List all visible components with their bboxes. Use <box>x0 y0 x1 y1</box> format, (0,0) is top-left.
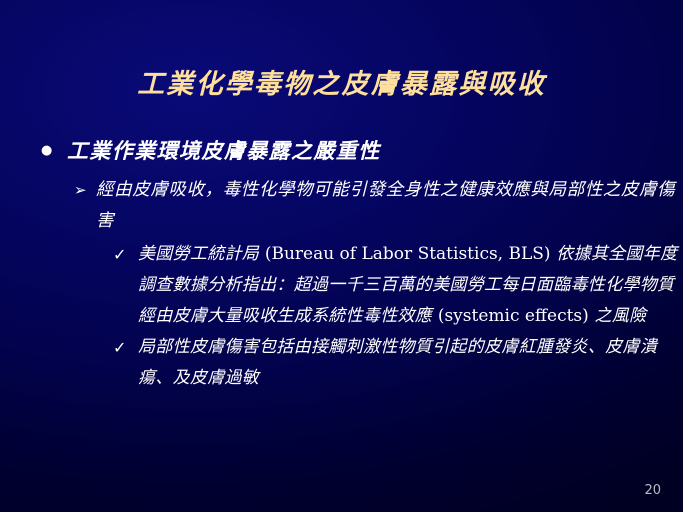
text-segment-cjk-3: 之風險 <box>589 306 647 326</box>
bullet-level2-text: 經由皮膚吸收，毒性化學物可能引發全身性之健康效應與局部性之皮膚傷害 <box>96 175 683 237</box>
bullet-level3-item-1-text: 美國勞工統計局 (Bureau of Labor Statistics, BLS… <box>138 239 683 332</box>
slide-title: 工業化學毒物之皮膚暴露與吸收 <box>0 68 683 102</box>
page-number: 20 <box>644 483 661 499</box>
checkmark-bullet-icon: ✓ <box>113 332 138 363</box>
bullet-level3-item-2: ✓ 局部性皮膚傷害包括由接觸刺激性物質引起的皮膚紅腫發炎、皮膚潰瘍、及皮膚過敏 <box>113 332 683 394</box>
bullet-level3-item-2-text: 局部性皮膚傷害包括由接觸刺激性物質引起的皮膚紅腫發炎、皮膚潰瘍、及皮膚過敏 <box>138 332 683 394</box>
bullet-level2: ➢ 經由皮膚吸收，毒性化學物可能引發全身性之健康效應與局部性之皮膚傷害 <box>74 175 683 237</box>
bullet-level1-text: 工業作業環境皮膚暴露之嚴重性 <box>67 136 683 166</box>
slide-canvas: 工業化學毒物之皮膚暴露與吸收 ● 工業作業環境皮膚暴露之嚴重性 ➢ 經由皮膚吸收… <box>0 0 683 512</box>
checkmark-bullet-icon: ✓ <box>113 239 138 270</box>
text-segment-latin-bls: (Bureau of Labor Statistics, BLS) <box>265 244 551 264</box>
slide-body: ● 工業作業環境皮膚暴露之嚴重性 ➢ 經由皮膚吸收，毒性化學物可能引發全身性之健… <box>0 136 683 394</box>
bullet-level3-item-1: ✓ 美國勞工統計局 (Bureau of Labor Statistics, B… <box>113 239 683 332</box>
text-segment-latin-systemic-effects: (systemic effects) <box>438 306 589 326</box>
arrowhead-bullet-icon: ➢ <box>74 175 96 206</box>
filled-circle-bullet-icon: ● <box>41 136 67 166</box>
text-segment-cjk-1: 美國勞工統計局 <box>138 244 265 264</box>
bullet-level1: ● 工業作業環境皮膚暴露之嚴重性 <box>41 136 683 166</box>
